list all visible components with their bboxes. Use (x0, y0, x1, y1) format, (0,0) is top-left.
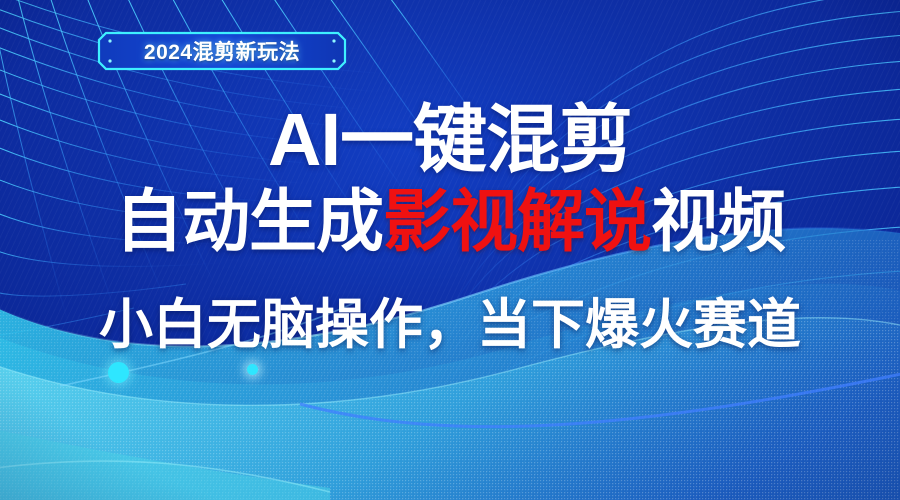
headline-line-2-highlight: 影视解说 (383, 184, 651, 260)
headline-line-2-prefix: 自动生成 (115, 184, 383, 260)
headline-line-2-suffix: 视频 (651, 184, 785, 260)
poster-content: 2024混剪新玩法 AI一键混剪 自动生成影视解说视频 小白无脑操作，当下爆火赛… (0, 0, 900, 500)
headline-line-1: AI一键混剪 (0, 97, 900, 183)
badge-label: 2024混剪新玩法 (97, 31, 347, 71)
headline-line-2: 自动生成影视解说视频 (0, 182, 900, 262)
headline-line-3: 小白无脑操作，当下爆火赛道 (0, 292, 900, 358)
topic-badge: 2024混剪新玩法 (97, 31, 347, 71)
poster-canvas: 2024混剪新玩法 AI一键混剪 自动生成影视解说视频 小白无脑操作，当下爆火赛… (0, 0, 900, 500)
